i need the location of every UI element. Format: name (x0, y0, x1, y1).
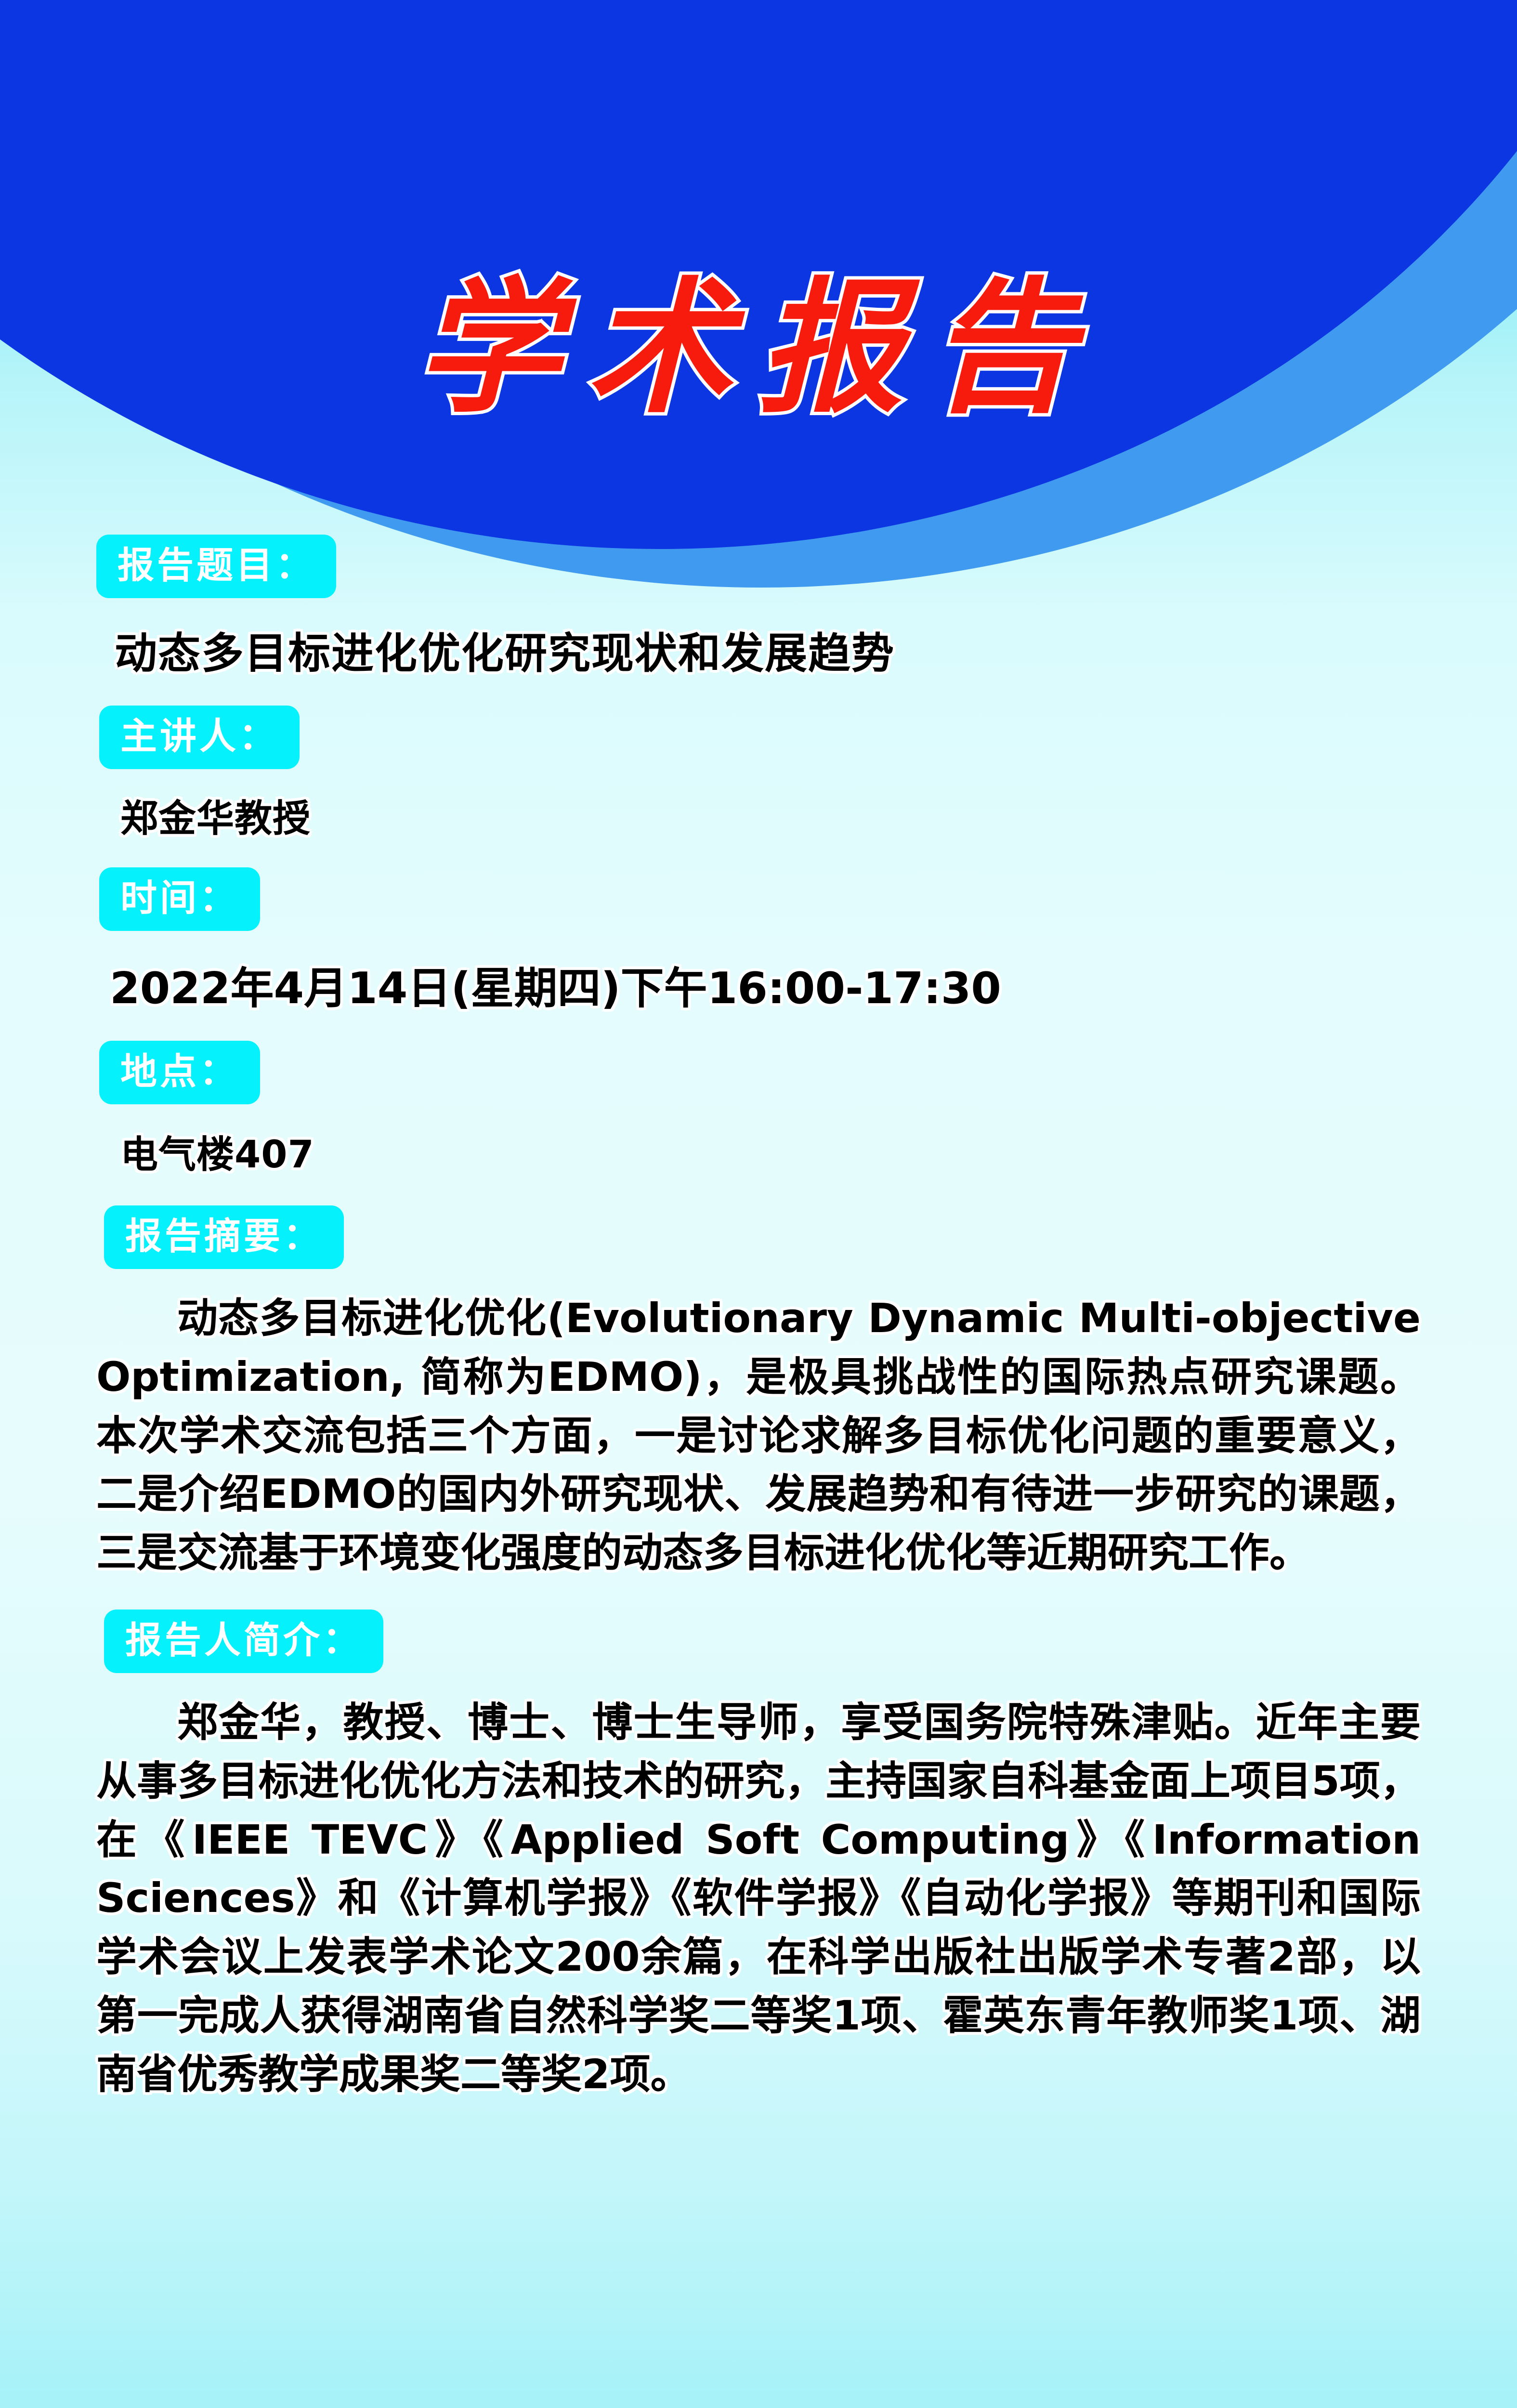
poster-title: 学术报告 (0, 231, 1517, 440)
value-speaker: 郑金华教授 (120, 788, 1517, 842)
spacer (0, 1016, 1517, 1041)
label-biography: 报告人简介： (104, 1610, 383, 1673)
poster-content: 报告题目： 动态多目标进化优化研究现状和发展趋势 主讲人： 郑金华教授 时间： … (0, 535, 1517, 2104)
label-place: 地点： (99, 1041, 260, 1104)
label-time: 时间： (99, 867, 260, 931)
biography-text: 郑金华，教授、博士、博士生导师，享受国务院特殊津贴。近年主要从事多目标进化优化方… (96, 1693, 1421, 2104)
spacer (0, 1178, 1517, 1205)
abstract-text: 动态多目标进化优化(Evolutionary Dynamic Multi-obj… (96, 1289, 1421, 1583)
value-time: 2022年4月14日(星期四)下午16:00-17:30 (110, 953, 1517, 1016)
spacer (0, 681, 1517, 706)
label-report-topic: 报告题目： (96, 535, 336, 598)
spacer (0, 842, 1517, 867)
value-place: 电气楼407 (120, 1125, 1517, 1178)
label-speaker: 主讲人： (99, 706, 300, 769)
academic-lecture-poster: 学术报告 报告题目： 动态多目标进化优化研究现状和发展趋势 主讲人： 郑金华教授… (0, 0, 1517, 2408)
label-abstract: 报告摘要： (104, 1205, 344, 1269)
spacer (0, 1583, 1517, 1610)
value-report-topic: 动态多目标进化优化研究现状和发展趋势 (115, 619, 1517, 681)
